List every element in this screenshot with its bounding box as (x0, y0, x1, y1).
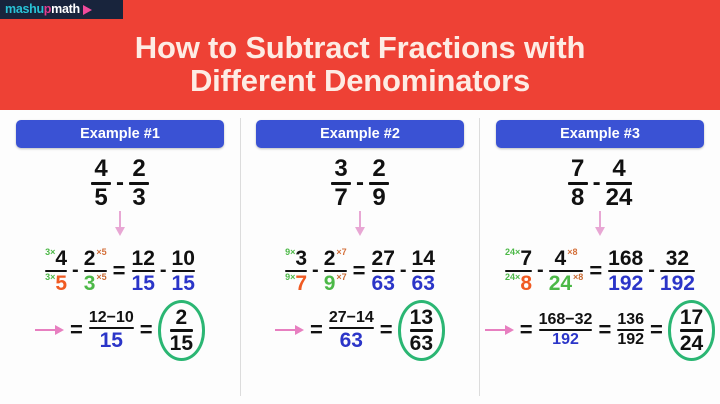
minus-operator: - (537, 259, 544, 282)
fraction: 13 63 (410, 307, 433, 354)
fraction: 168 192 (608, 248, 643, 295)
fraction-scaled-b: 4 ×8 24 ×8 (549, 248, 584, 295)
denominator: 15 (132, 273, 155, 294)
example-column-1: Example #1 4 5 - 2 3 (0, 110, 240, 404)
fraction-scaled-b: 2 ×5 3 ×5 (84, 248, 107, 295)
numerator-multiplier: ×7 (336, 248, 346, 257)
denominator: 15 (100, 330, 123, 351)
equals-operator: = (598, 317, 611, 343)
equals-operator: = (353, 258, 366, 284)
numerator: 2 ×5 (84, 248, 107, 269)
numerator: 24× 7 (505, 248, 532, 269)
fraction: 7 8 (568, 157, 588, 210)
header-banner: mashupmath How to Subtract Fractions wit… (0, 0, 720, 110)
equals-operator: = (520, 317, 533, 343)
numerator: 168 (608, 248, 643, 269)
denominator: 15 (170, 333, 193, 354)
numerator: 9× 3 (285, 248, 307, 269)
example-1-step-2: 3× 4 3× 5 - 2 ×5 (0, 248, 240, 295)
numerator-value: 3 (295, 248, 307, 269)
example-3-step-1: 7 8 - 4 24 (480, 157, 720, 210)
down-arrow-slot-3 (480, 210, 720, 236)
denominator-value: 5 (55, 273, 67, 294)
fraction: 4 5 (91, 157, 111, 210)
numerator: 2 ×7 (324, 248, 347, 269)
fraction: 2 15 (170, 307, 193, 354)
fraction: 12 15 (132, 248, 155, 295)
numerator-value: 4 (555, 248, 567, 269)
numerator: 17 (680, 307, 703, 328)
numerator-value: 2 (84, 248, 96, 269)
page-title-line-2: Different Denominators (190, 65, 530, 98)
example-column-3: Example #3 7 8 - 4 24 (480, 110, 720, 404)
example-1-step-1: 4 5 - 2 3 (0, 157, 240, 210)
brand-logo-text: mashupmath (0, 0, 80, 19)
example-banner-label-2: Example #2 (320, 126, 400, 142)
numerator-value: 4 (55, 248, 67, 269)
fraction: 17 24 (680, 307, 703, 354)
denominator: 9× 7 (285, 273, 307, 294)
minus-operator: - (312, 259, 319, 282)
denominator: 192 (608, 273, 643, 294)
denominator: 24× 8 (505, 273, 532, 294)
fraction: 136 192 (617, 312, 644, 348)
right-arrow-icon (275, 324, 305, 336)
denominator: 192 (660, 273, 695, 294)
numerator: 168−32 (539, 312, 593, 328)
down-arrow-slot-1 (0, 210, 240, 236)
example-2-step-1: 3 7 - 2 9 (240, 157, 480, 210)
right-arrow-slot-2 (275, 324, 305, 336)
denominator: 9 (372, 186, 385, 210)
fraction-scaled-a: 9× 3 9× 7 (285, 248, 307, 295)
fraction-scaled-a: 24× 7 24× 8 (505, 248, 532, 295)
denominator-value: 9 (324, 273, 336, 294)
numerator: 14 (412, 248, 435, 269)
fraction-scaled-b: 2 ×7 9 ×7 (324, 248, 347, 295)
denominator: 63 (412, 273, 435, 294)
numerator-multiplier: 9× (285, 248, 295, 257)
example-banner-1[interactable]: Example #1 (16, 120, 224, 148)
right-arrow-icon (35, 324, 65, 336)
play-triangle-icon (83, 5, 92, 15)
numerator-value: 7 (520, 248, 532, 269)
numerator-multiplier: ×8 (567, 248, 577, 257)
denominator-multiplier: ×7 (336, 273, 346, 282)
page-title: How to Subtract Fractions with Different… (0, 19, 720, 110)
minus-operator: - (648, 259, 655, 282)
denominator: 24 (606, 186, 633, 210)
example-banner-label-3: Example #3 (560, 126, 640, 142)
denominator: 3 (132, 186, 145, 210)
right-arrow-icon (485, 324, 515, 336)
denominator-multiplier: 3× (45, 273, 55, 282)
minus-operator: - (593, 169, 601, 197)
final-answer-2: 13 63 (398, 304, 445, 357)
right-arrow-slot-3 (485, 324, 515, 336)
numerator: 2 (132, 157, 145, 181)
fraction: 12−10 15 (89, 310, 134, 351)
numerator: 10 (172, 248, 195, 269)
equals-operator: = (70, 317, 83, 343)
fraction-scaled-a: 3× 4 3× 5 (45, 248, 67, 295)
numerator: 4 (94, 157, 107, 181)
denominator: 24 (680, 333, 703, 354)
denominator-value: 24 (549, 273, 572, 294)
denominator: 192 (552, 332, 579, 348)
numerator: 2 (372, 157, 385, 181)
numerator: 3× 4 (45, 248, 67, 269)
minus-operator: - (160, 259, 167, 282)
denominator: 3× 5 (45, 273, 67, 294)
example-3-step-3: = 168−32 192 = 136 192 = 17 2 (480, 304, 720, 357)
denominator: 192 (617, 332, 644, 348)
numerator-multiplier: 24× (505, 248, 520, 257)
example-2-step-2: 9× 3 9× 7 - 2 ×7 (240, 248, 480, 295)
denominator-multiplier: 24× (505, 273, 520, 282)
fraction: 27−14 63 (329, 310, 374, 351)
minus-operator: - (116, 169, 124, 197)
fraction: 2 9 (369, 157, 389, 210)
fraction: 2 3 (129, 157, 149, 210)
denominator-value: 3 (84, 273, 96, 294)
numerator: 7 (571, 157, 584, 181)
denominator: 9 ×7 (324, 273, 347, 294)
numerator: 3 (334, 157, 347, 181)
denominator: 8 (571, 186, 584, 210)
example-3-step-2: 24× 7 24× 8 - 4 ×8 (480, 248, 720, 295)
numerator: 4 ×8 (555, 248, 578, 269)
denominator-value: 8 (520, 273, 532, 294)
final-answer-3: 17 24 (668, 304, 715, 357)
down-arrow-icon (593, 211, 607, 237)
final-answer-1: 2 15 (158, 304, 205, 357)
equals-operator: = (140, 317, 153, 343)
numerator: 32 (666, 248, 689, 269)
fraction: 3 7 (331, 157, 351, 210)
denominator: 24 ×8 (549, 273, 584, 294)
example-banner-3[interactable]: Example #3 (496, 120, 704, 148)
example-column-2: Example #2 3 7 - 2 9 (240, 110, 480, 404)
numerator: 2 (175, 307, 187, 328)
fraction: 27 63 (372, 248, 395, 295)
equals-operator: = (650, 317, 663, 343)
fraction: 10 15 (172, 248, 195, 295)
minus-operator: - (356, 169, 364, 197)
down-arrow-slot-2 (240, 210, 480, 236)
denominator-multiplier: ×5 (96, 273, 106, 282)
examples-board: Example #1 4 5 - 2 3 (0, 110, 720, 404)
numerator-multiplier: ×5 (96, 248, 106, 257)
example-banner-2[interactable]: Example #2 (256, 120, 464, 148)
equals-operator: = (589, 258, 602, 284)
numerator: 12 (132, 248, 155, 269)
fraction: 32 192 (660, 248, 695, 295)
equals-operator: = (380, 317, 393, 343)
numerator-value: 2 (324, 248, 336, 269)
fraction: 4 24 (606, 157, 633, 210)
equals-operator: = (310, 317, 323, 343)
denominator-multiplier: ×8 (573, 273, 583, 282)
denominator-value: 7 (295, 273, 307, 294)
denominator-multiplier: 9× (285, 273, 295, 282)
denominator: 3 ×5 (84, 273, 107, 294)
example-1-step-3: = 12−10 15 = 2 15 (0, 304, 240, 357)
numerator: 27 (372, 248, 395, 269)
page-title-line-1: How to Subtract Fractions with (135, 32, 585, 65)
equals-operator: = (113, 258, 126, 284)
down-arrow-icon (113, 211, 127, 237)
denominator: 63 (340, 330, 363, 351)
numerator: 13 (410, 307, 433, 328)
minus-operator: - (400, 259, 407, 282)
numerator: 4 (612, 157, 625, 181)
worksheet-page: mashupmath How to Subtract Fractions wit… (0, 0, 720, 404)
numerator: 12−10 (89, 310, 134, 326)
down-arrow-icon (353, 211, 367, 237)
denominator: 5 (94, 186, 107, 210)
brand-logo-math: math (51, 2, 80, 16)
fraction: 168−32 192 (539, 312, 593, 348)
brand-logo[interactable]: mashupmath (0, 0, 123, 19)
denominator: 15 (172, 273, 195, 294)
right-arrow-slot-1 (35, 324, 65, 336)
example-banner-label-1: Example #1 (80, 126, 160, 142)
brand-logo-mashu: mashu (5, 2, 44, 16)
numerator: 136 (617, 312, 644, 328)
denominator: 63 (410, 333, 433, 354)
fraction: 14 63 (412, 248, 435, 295)
minus-operator: - (72, 259, 79, 282)
denominator: 63 (372, 273, 395, 294)
example-2-step-3: = 27−14 63 = 13 63 (240, 304, 480, 357)
denominator: 7 (334, 186, 347, 210)
numerator-multiplier: 3× (45, 248, 55, 257)
numerator: 27−14 (329, 310, 374, 326)
